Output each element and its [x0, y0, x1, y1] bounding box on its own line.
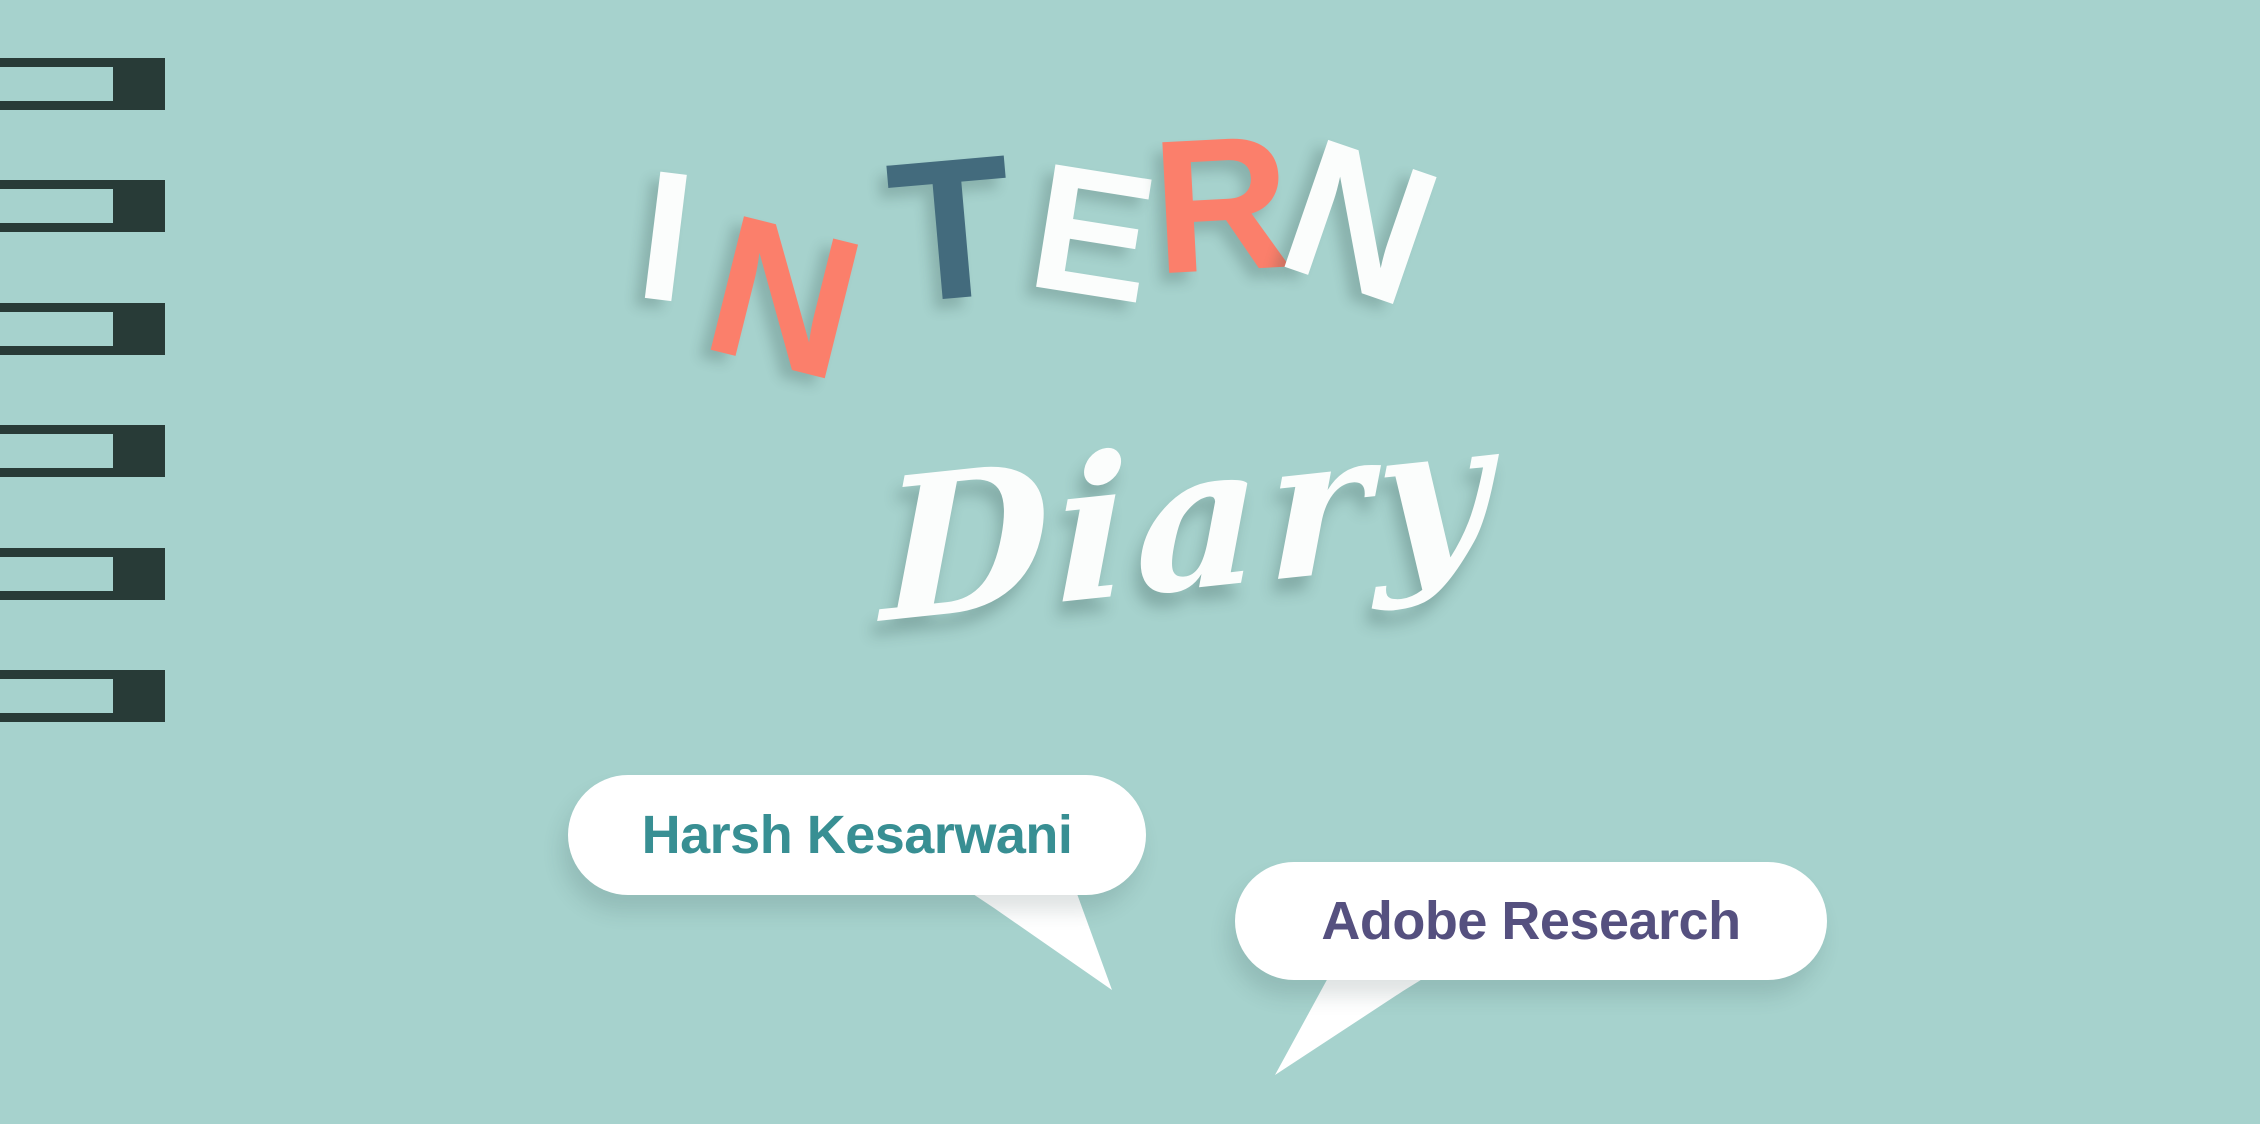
speech-bubble-org-label: Adobe Research	[1321, 890, 1740, 952]
binding-ring	[0, 548, 165, 600]
title-letter-t: T	[882, 125, 1021, 335]
title-letter-n2: N	[1262, 107, 1459, 337]
slide-canvas: I N T E R N Diary Harsh Kesarwani Adobe …	[0, 0, 2260, 1124]
speech-bubble-org[interactable]: Adobe Research	[1235, 862, 1827, 980]
binding-ring	[0, 303, 165, 355]
title-letter-n1: N	[690, 183, 879, 412]
speech-bubble-name[interactable]: Harsh Kesarwani	[568, 775, 1146, 895]
page-title-intern: I N T E R N	[600, 120, 1700, 420]
title-letter-e: E	[1020, 136, 1167, 333]
speech-bubble-tail-name	[952, 880, 1112, 990]
binding-ring	[0, 425, 165, 477]
binding-ring	[0, 180, 165, 232]
speech-bubble-name-label: Harsh Kesarwani	[642, 804, 1073, 866]
notebook-spiral-binding	[0, 0, 170, 1124]
binding-ring	[0, 670, 165, 722]
binding-ring	[0, 58, 165, 110]
speech-bubble-tail-org	[1275, 965, 1445, 1075]
title-letter-i: I	[629, 143, 703, 333]
